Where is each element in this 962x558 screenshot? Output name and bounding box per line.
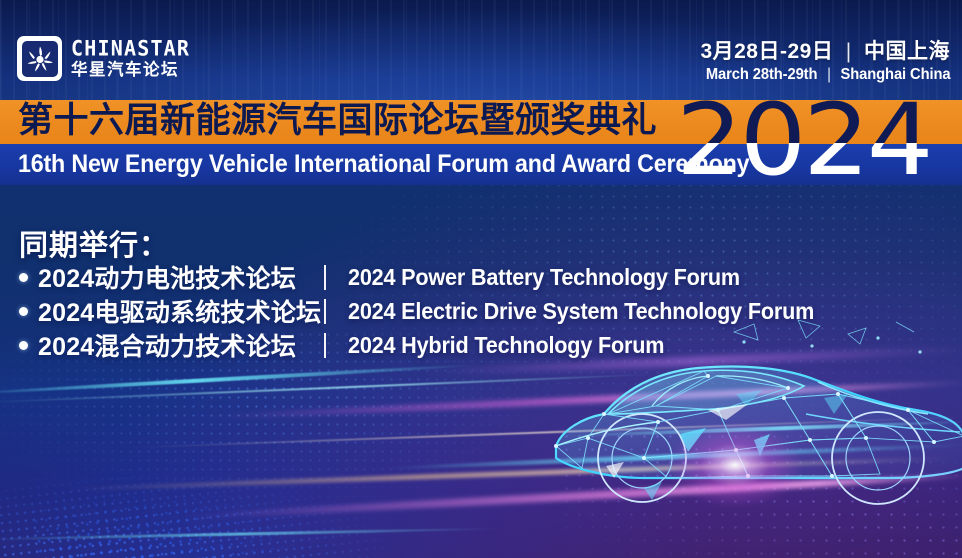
meta-separator-cn: | — [840, 40, 858, 64]
brand-logo[interactable]: CHINASTAR 华星汽车论坛 — [17, 36, 190, 81]
poster-header: CHINASTAR 华星汽车论坛 3月28日-29日 | 中国上海 March … — [0, 0, 962, 100]
forum-divider — [324, 299, 326, 324]
bullet-dot-icon — [19, 307, 28, 316]
event-poster: CHINASTAR 华星汽车论坛 3月28日-29日 | 中国上海 March … — [0, 0, 962, 558]
page-title-en: 16th New Energy Vehicle International Fo… — [18, 144, 749, 185]
forum-name-cn: 2024动力电池技术论坛 — [38, 259, 318, 295]
event-date-en: March 28th-29th — [705, 66, 817, 83]
event-meta-cn: 3月28日-29日 | 中国上海 — [693, 40, 950, 64]
brand-name-cn: 华星汽车论坛 — [71, 62, 190, 79]
event-date-cn: 3月28日-29日 — [700, 40, 833, 63]
bullet-dot-icon — [19, 273, 28, 282]
star-burst-icon — [17, 36, 62, 81]
event-meta: 3月28日-29日 | 中国上海 March 28th-29th | Shang… — [693, 40, 950, 85]
wireframe-car-icon — [548, 318, 962, 558]
event-location-en: Shanghai China — [840, 66, 950, 83]
forum-name-cn: 2024电驱动系统技术论坛 — [38, 293, 318, 329]
event-location-cn: 中国上海 — [864, 40, 950, 63]
event-meta-en: March 28th-29th | Shanghai China — [705, 66, 950, 85]
page-title-cn: 第十六届新能源汽车国际论坛暨颁奖典礼 — [18, 100, 657, 144]
forum-divider — [324, 333, 326, 358]
concurrent-events-heading: 同期举行： — [19, 222, 169, 264]
forum-divider — [324, 265, 326, 290]
forum-name-en: 2024 Power Battery Technology Forum — [348, 264, 740, 291]
meta-separator-en: | — [821, 66, 836, 85]
list-item: 2024动力电池技术论坛 2024 Power Battery Technolo… — [19, 262, 844, 292]
forum-name-cn: 2024混合动力技术论坛 — [38, 327, 318, 363]
bullet-dot-icon — [19, 341, 28, 350]
brand-name-en: CHINASTAR — [71, 38, 190, 59]
